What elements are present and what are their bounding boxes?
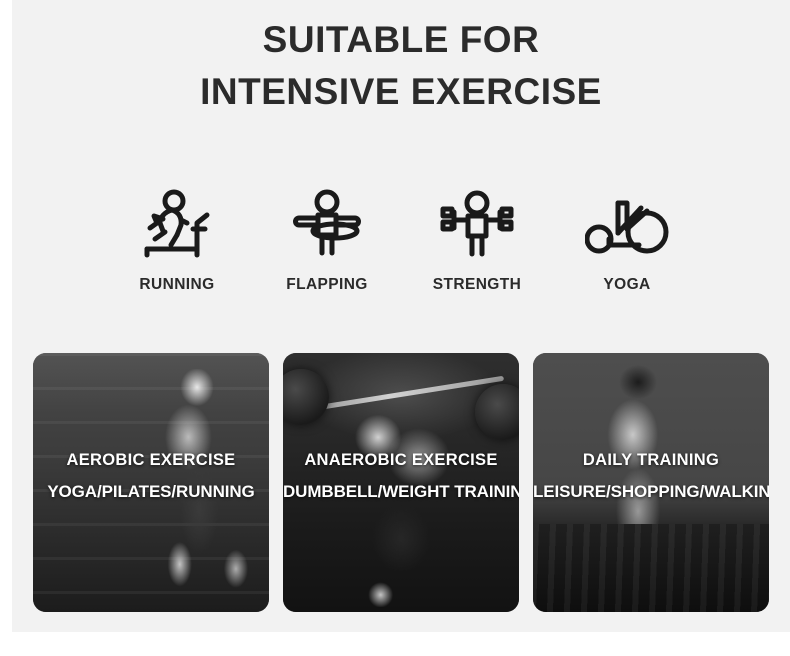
activity-label-running: RUNNING: [139, 276, 214, 294]
treadmill-running-icon: [139, 186, 215, 264]
yoga-ball-stretch-icon: [585, 186, 669, 264]
page-title-line-2: INTENSIVE EXERCISE: [12, 66, 790, 118]
exercise-card-row: AEROBIC EXERCISE YOGA/PILATES/RUNNING AN…: [33, 353, 769, 612]
exercise-card-aerobic-subtitle: YOGA/PILATES/RUNNING: [33, 482, 269, 502]
exercise-card-daily-subtitle: LEISURE/SHOPPING/WALKING: [533, 482, 769, 502]
activity-item-flapping: FLAPPING: [252, 186, 402, 294]
exercise-card-anaerobic-subtitle: DUMBBELL/WEIGHT TRAINING: [283, 482, 519, 502]
dumbbell-strength-icon: [437, 186, 517, 264]
exercise-card-anaerobic-overlay: ANAEROBIC EXERCISE DUMBBELL/WEIGHT TRAIN…: [283, 451, 519, 502]
exercise-card-anaerobic[interactable]: ANAEROBIC EXERCISE DUMBBELL/WEIGHT TRAIN…: [283, 353, 519, 612]
page-title-line-1: SUITABLE FOR: [12, 14, 790, 66]
content-panel: SUITABLE FOR INTENSIVE EXERCISE: [12, 0, 790, 632]
activity-label-yoga: YOGA: [603, 276, 650, 294]
activity-item-running: RUNNING: [102, 186, 252, 294]
activity-label-flapping: FLAPPING: [286, 276, 368, 294]
activity-item-strength: STRENGTH: [402, 186, 552, 294]
activity-icon-row: RUNNING FLAPPING: [102, 186, 702, 294]
exercise-card-daily-title: DAILY TRAINING: [533, 451, 769, 470]
exercise-card-anaerobic-title: ANAEROBIC EXERCISE: [283, 451, 519, 470]
activity-item-yoga: YOGA: [552, 186, 702, 294]
exercise-card-daily-overlay: DAILY TRAINING LEISURE/SHOPPING/WALKING: [533, 451, 769, 502]
exercise-card-aerobic-title: AEROBIC EXERCISE: [33, 451, 269, 470]
exercise-card-aerobic[interactable]: AEROBIC EXERCISE YOGA/PILATES/RUNNING: [33, 353, 269, 612]
activity-label-strength: STRENGTH: [433, 276, 521, 294]
exercise-card-aerobic-overlay: AEROBIC EXERCISE YOGA/PILATES/RUNNING: [33, 451, 269, 502]
page-title: SUITABLE FOR INTENSIVE EXERCISE: [12, 14, 790, 118]
arms-flapping-icon: [289, 186, 365, 264]
exercise-card-daily[interactable]: DAILY TRAINING LEISURE/SHOPPING/WALKING: [533, 353, 769, 612]
promo-banner: SUITABLE FOR INTENSIVE EXERCISE: [0, 0, 790, 656]
